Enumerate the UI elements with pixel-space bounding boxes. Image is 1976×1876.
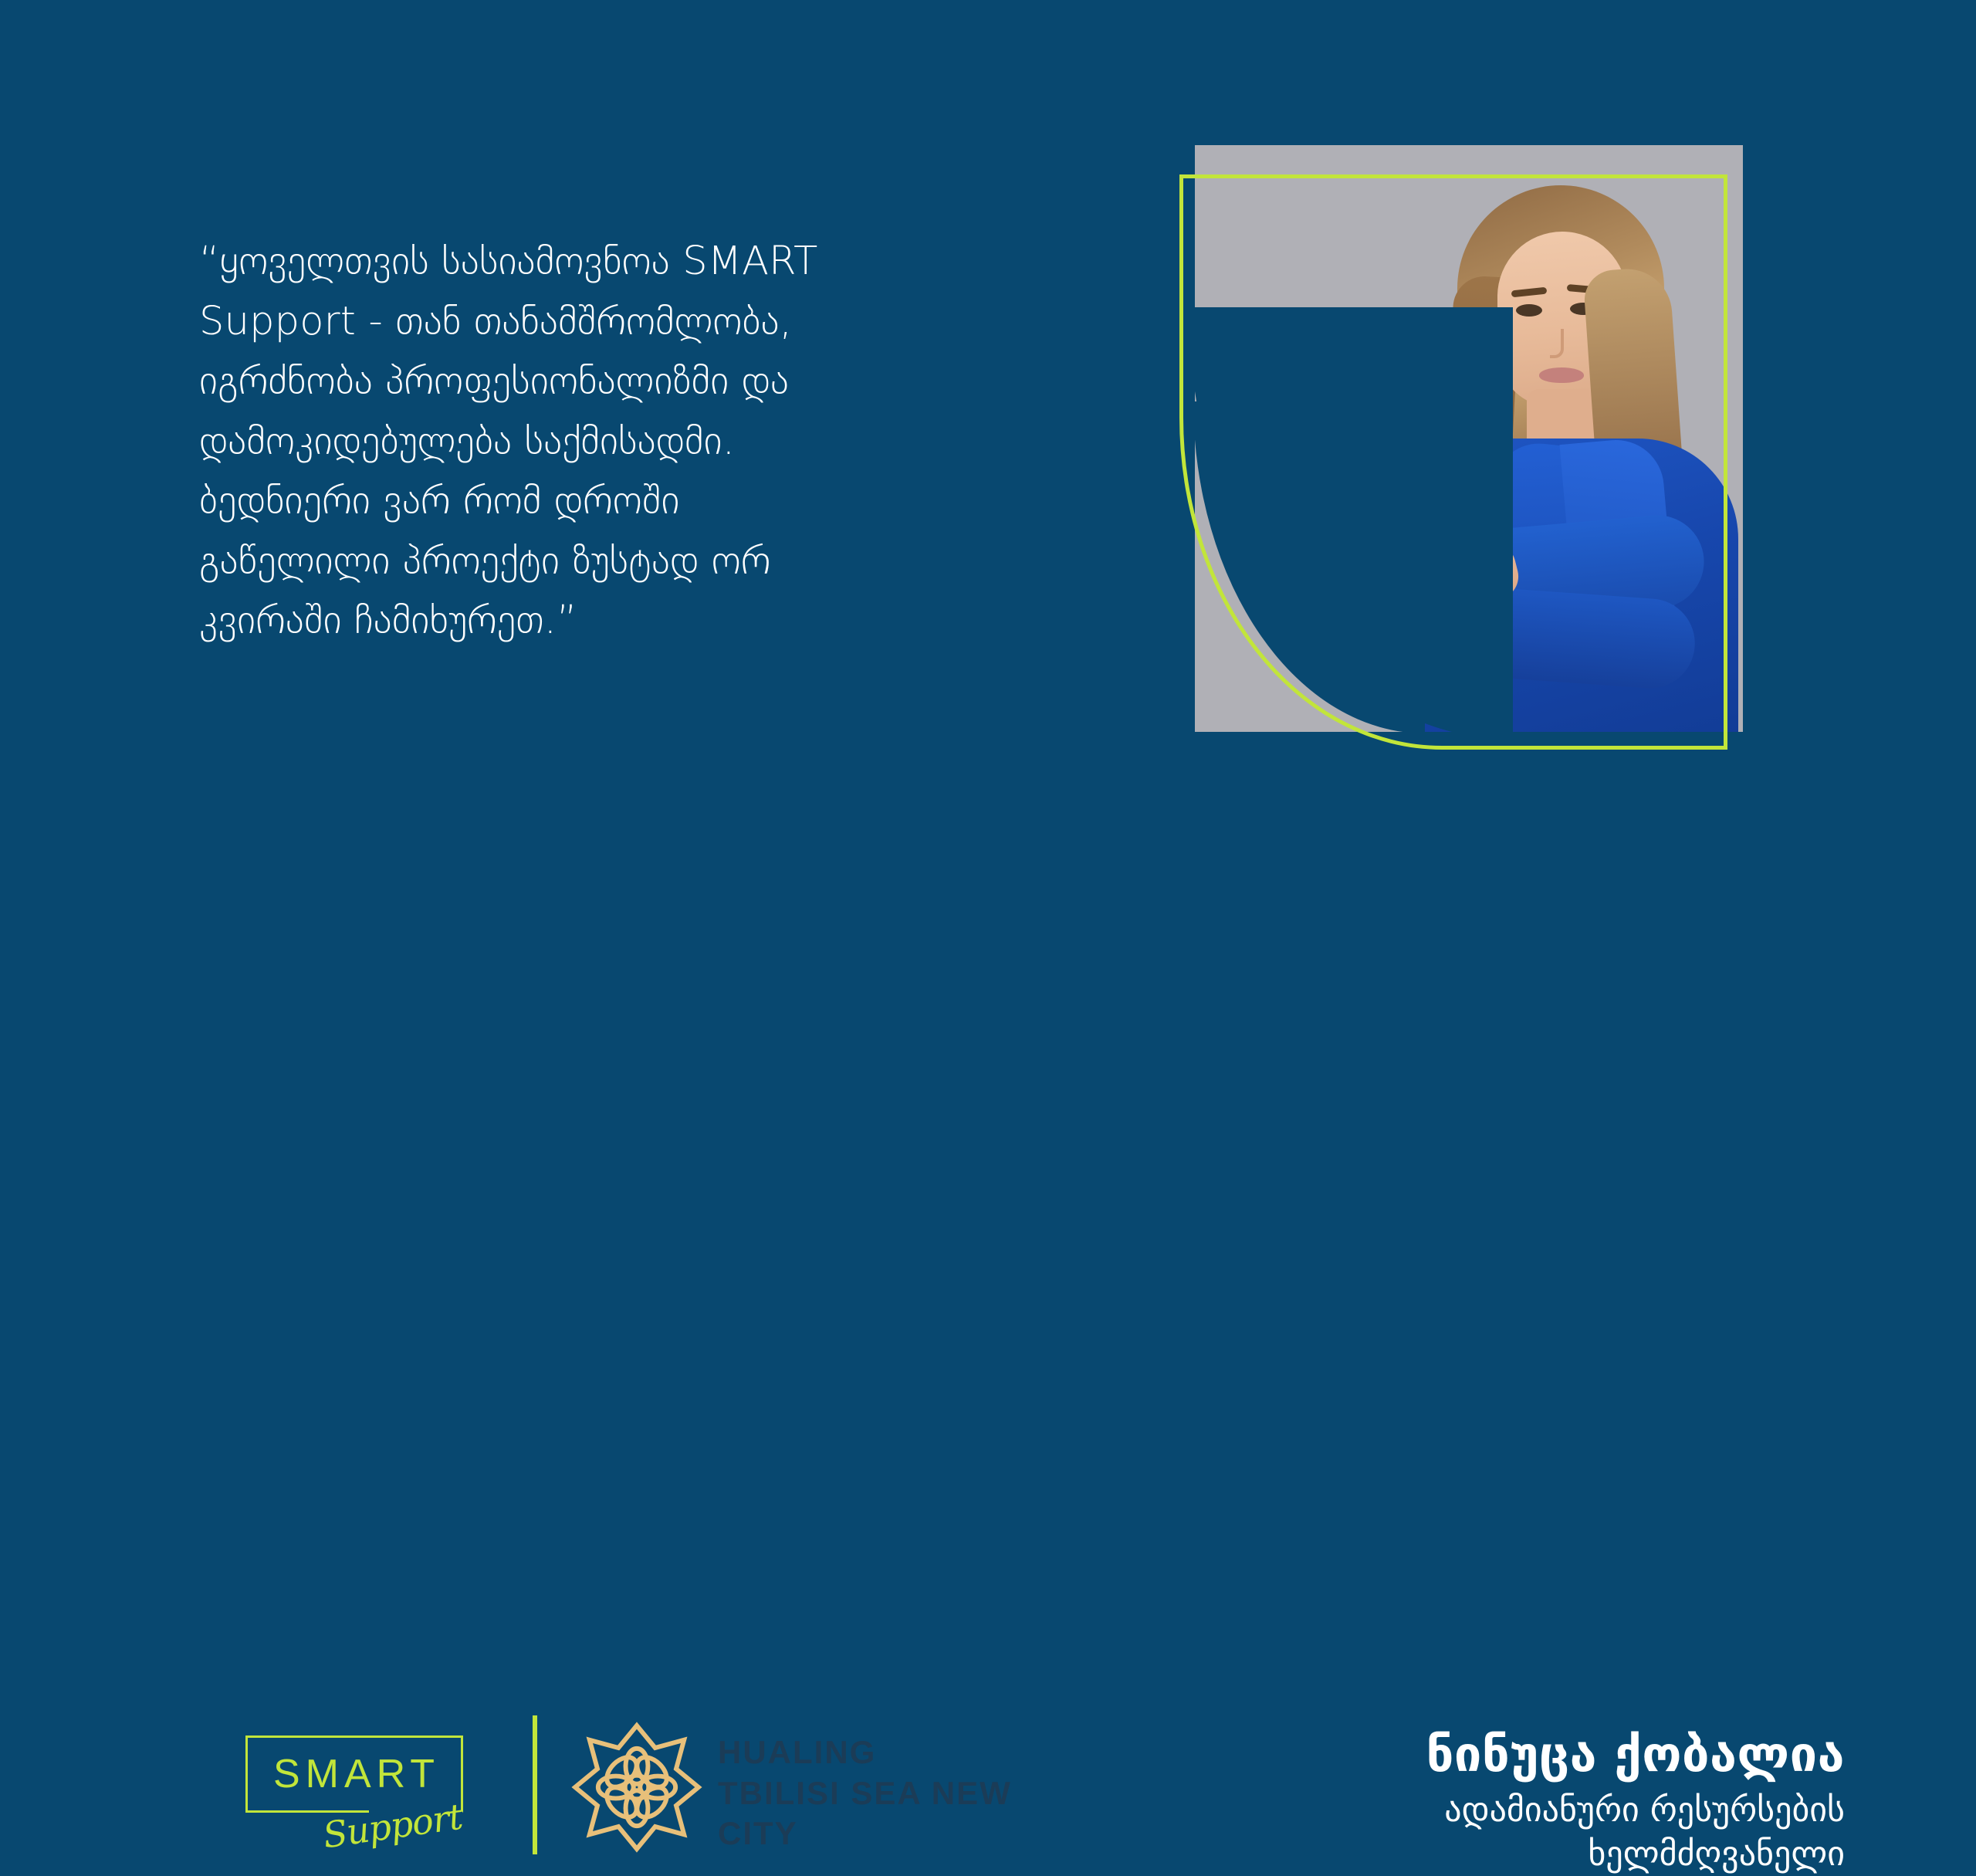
hualing-logo: HUALING TBILISI SEA NEW CITY [571, 1715, 1096, 1862]
person-role: ადამიანური რესურსების ხელმძღვანელი [1150, 1789, 1845, 1876]
smart-logo-word: SMART [264, 1751, 449, 1797]
rosette-star-icon [571, 1722, 702, 1853]
quote-block: “ყოველთვის სასიამოვნოა SMART Support - თ… [199, 232, 1025, 651]
testimonial-slide: “ყოველთვის სასიამოვნოა SMART Support - თ… [0, 0, 1976, 1112]
photo-background [1195, 145, 1743, 732]
hualing-line2: TBILISI SEA NEW CITY [718, 1773, 1096, 1854]
footer: SMART Support H [0, 857, 1976, 1112]
nose [1550, 329, 1564, 358]
quote-text: “ყოველთვის სასიამოვნოა SMART Support - თ… [199, 232, 1025, 651]
person-name: ნინუცა ქობალია [1150, 1728, 1845, 1781]
photo-panel [1195, 145, 1743, 755]
hualing-wordmark: HUALING TBILISI SEA NEW CITY [718, 1732, 1096, 1854]
logo-divider [533, 1715, 537, 1854]
eye-left [1516, 304, 1542, 317]
person-role-line1: ადამიანური რესურსების [1150, 1789, 1845, 1832]
person-role-line2: ხელმძღვანელი [1150, 1833, 1845, 1876]
attribution-block: ნინუცა ქობალია ადამიანური რესურსების ხელ… [1150, 1728, 1845, 1876]
hualing-line1: HUALING [718, 1732, 1096, 1773]
lips [1539, 367, 1584, 383]
smart-support-logo: SMART Support [232, 1722, 472, 1868]
corner-arc-cut-inner [1195, 401, 1425, 732]
